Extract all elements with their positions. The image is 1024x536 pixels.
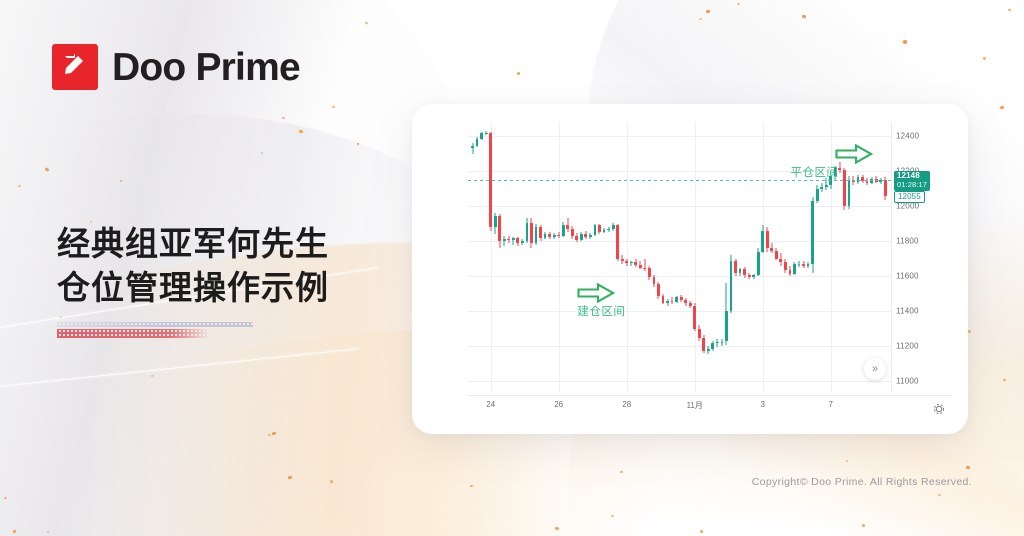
candle-body (684, 300, 687, 304)
candlestick (711, 122, 714, 392)
confetti-dot (700, 530, 704, 534)
candlestick (761, 122, 764, 392)
last-price-badge: 12148 01:28:17 (894, 171, 930, 190)
candlestick (621, 122, 624, 392)
y-axis-tick-label: 11600 (896, 272, 919, 281)
confetti-dot (282, 117, 285, 120)
candlestick (693, 122, 696, 392)
current-price-line (468, 180, 892, 181)
candle-body (702, 338, 705, 351)
candlestick (607, 122, 610, 392)
candlestick (675, 122, 678, 392)
candle-body (748, 275, 751, 276)
candlestick (485, 122, 488, 392)
confetti-dot (737, 2, 741, 5)
candlestick (480, 122, 483, 392)
confetti-dot (706, 9, 711, 13)
confetti-dot (47, 531, 50, 534)
candle-body (557, 235, 560, 236)
candle-body (548, 234, 551, 237)
annotation-close-range: 平仓区间 (791, 144, 873, 180)
candle-body (716, 342, 719, 343)
candle-body (884, 180, 887, 197)
candle-body (612, 225, 615, 229)
candle-body (653, 277, 656, 284)
candlestick (539, 122, 542, 392)
candle-body (598, 225, 601, 231)
candlestick (721, 122, 724, 392)
candle-body (689, 303, 692, 306)
candle-body (480, 133, 483, 138)
confetti-dot (4, 497, 7, 500)
candlestick (584, 122, 587, 392)
candlestick (507, 122, 510, 392)
last-price-value: 12148 (897, 171, 920, 180)
confetti-dot (470, 484, 474, 487)
candle-body (526, 223, 529, 241)
brand-logo-text: Doo Prime (112, 48, 300, 87)
candlestick (544, 122, 547, 392)
candle-wick (504, 236, 505, 247)
candlestick (770, 122, 773, 392)
candlestick (553, 122, 556, 392)
candlestick (884, 122, 887, 392)
x-axis-tick-label: 7 (829, 400, 833, 409)
confetti-dot (620, 471, 623, 474)
candle-body (589, 235, 592, 237)
candle-body (571, 229, 574, 236)
confetti-dot (268, 433, 272, 436)
x-axis-tick-label: 26 (554, 400, 563, 409)
candle-wick (717, 339, 718, 347)
confetti-dot (261, 152, 263, 154)
confetti-dot (1008, 8, 1012, 11)
candle-body (553, 235, 556, 237)
candlestick (512, 122, 515, 392)
candlestick (784, 122, 787, 392)
candlestick (589, 122, 592, 392)
candlestick (653, 122, 656, 392)
candlestick (489, 122, 492, 392)
candle-body (825, 185, 828, 187)
candlestick (671, 122, 674, 392)
candle-body (693, 306, 696, 329)
candlestick (476, 122, 479, 392)
candlestick (648, 122, 651, 392)
candle-body (662, 296, 665, 302)
candlestick (471, 122, 474, 392)
candle-body (607, 229, 610, 230)
y-axis-tick-label: 11400 (896, 307, 919, 316)
confetti-dot (332, 106, 335, 109)
chart-inner: 建仓区间 平仓区间 124001220012000118001160011400… (430, 114, 960, 426)
candle-body (680, 297, 683, 300)
accent-bar-row-red (57, 329, 253, 338)
candle-body (743, 269, 746, 275)
brand-logo: Doo Prime (52, 44, 300, 90)
candlestick (875, 122, 878, 392)
candlestick (775, 122, 778, 392)
bid-price-badge: 12055 (894, 191, 925, 204)
confetti-dot (968, 330, 972, 334)
x-axis-tick-label: 24 (486, 400, 495, 409)
chart-card: 建仓区间 平仓区间 124001220012000118001160011400… (412, 104, 968, 434)
candle-body (820, 187, 823, 189)
candle-body (625, 261, 628, 264)
confetti-dot (966, 466, 971, 470)
candlestick (548, 122, 551, 392)
candlestick (571, 122, 574, 392)
candle-body (739, 269, 742, 273)
candle-body (471, 146, 474, 149)
candle-body (639, 265, 642, 268)
candle-body (707, 349, 710, 351)
confetti-dot (45, 167, 50, 172)
candlestick (662, 122, 665, 392)
candle-body (757, 252, 760, 276)
candlestick (748, 122, 751, 392)
candlestick (603, 122, 606, 392)
scroll-to-latest-button[interactable]: » (864, 358, 886, 380)
candlestick (530, 122, 533, 392)
candle-body (616, 225, 619, 259)
candle-wick (472, 143, 473, 154)
candle-body (521, 241, 524, 243)
confetti-dot (862, 524, 866, 528)
confetti-dot (365, 21, 369, 24)
candle-body (734, 261, 737, 273)
annotation-close-range-label: 平仓区间 (791, 164, 873, 180)
candle-body (793, 264, 796, 274)
candlestick-plot[interactable]: 建仓区间 平仓区间 (468, 122, 892, 392)
x-axis-tick-label: 11月 (687, 400, 703, 411)
candle-body (485, 133, 488, 134)
confetti-dot (272, 431, 277, 435)
candlestick (716, 122, 719, 392)
confetti-dot (151, 375, 155, 378)
candle-body (476, 139, 479, 146)
doo-prime-logo-mark-icon (52, 44, 98, 90)
candle-body (721, 342, 724, 343)
x-axis-tick-label: 3 (761, 400, 765, 409)
candlestick (498, 122, 501, 392)
candlestick (630, 122, 633, 392)
candlestick (725, 122, 728, 392)
candle-body (603, 230, 606, 232)
candle-body (848, 180, 851, 206)
candle-body (770, 248, 773, 251)
candle-body (535, 227, 538, 243)
accent-bar-row-blue (57, 322, 253, 327)
candlestick (698, 122, 701, 392)
candlestick (739, 122, 742, 392)
decorative-accent-bar (57, 322, 253, 338)
candlestick (779, 122, 782, 392)
candle-body (798, 264, 801, 265)
candlestick (689, 122, 692, 392)
candlestick (580, 122, 583, 392)
candle-body (594, 225, 597, 234)
candlestick (516, 122, 519, 392)
candlestick (557, 122, 560, 392)
candlestick (575, 122, 578, 392)
x-axis-tick-label: 28 (622, 400, 631, 409)
candlestick (503, 122, 506, 392)
double-chevron-right-icon: » (872, 363, 878, 375)
candlestick (643, 122, 646, 392)
candlestick (594, 122, 597, 392)
poster-canvas: Doo Prime 经典组亚军何先生 仓位管理操作示例 建仓区间 (0, 0, 1024, 536)
y-axis[interactable]: 1240012200120001180011600114001120011000… (892, 122, 956, 392)
candle-body (802, 264, 805, 266)
candlestick (702, 122, 705, 392)
confetti-dot (1000, 105, 1005, 109)
candlestick (612, 122, 615, 392)
candle-body (779, 259, 782, 263)
y-axis-tick-label: 11200 (896, 342, 919, 351)
candlestick (562, 122, 565, 392)
confetti-dot (611, 515, 614, 518)
candlestick (634, 122, 637, 392)
candlestick (757, 122, 760, 392)
candlestick (657, 122, 660, 392)
candle-body (807, 264, 810, 266)
candle-body (766, 231, 769, 249)
candlestick (680, 122, 683, 392)
candle-body (775, 251, 778, 259)
confetti-dot (60, 316, 62, 318)
candle-body (494, 216, 497, 227)
candle-body (544, 234, 547, 238)
candlestick (639, 122, 642, 392)
candle-body (675, 297, 678, 301)
candle-body (530, 223, 533, 243)
candlestick (526, 122, 529, 392)
confetti-dot (299, 129, 304, 133)
candlestick (707, 122, 710, 392)
candle-body (580, 234, 583, 240)
candle-body (671, 301, 674, 302)
annotation-open-range: 建仓区间 (577, 283, 625, 319)
candle-body (711, 343, 714, 349)
candlestick (535, 122, 538, 392)
highlight-line (0, 348, 359, 389)
confetti-dot (120, 180, 122, 182)
confetti-dot (330, 480, 334, 484)
confetti-dot (288, 475, 293, 479)
candle-body (498, 216, 501, 241)
page-title-line-2: 仓位管理操作示例 (57, 266, 329, 310)
candle-body (761, 231, 764, 252)
confetti-dot (903, 40, 908, 45)
candle-body (512, 238, 515, 240)
candle-body (539, 227, 542, 238)
candle-body (648, 268, 651, 277)
confetti-dot (555, 526, 560, 530)
right-arrow-icon (577, 283, 615, 303)
page-title-line-1: 经典组亚军何先生 (57, 222, 329, 266)
gear-icon (933, 403, 945, 415)
confetti-dot (1003, 379, 1007, 382)
candle-body (698, 329, 701, 338)
x-axis[interactable]: 24262811月37 (468, 396, 892, 418)
candlestick (752, 122, 755, 392)
candle-body (816, 189, 819, 201)
confetti-dot (938, 493, 942, 496)
y-axis-tick-label: 11800 (896, 237, 919, 246)
right-arrow-icon (835, 144, 873, 164)
candle-body (503, 239, 506, 242)
copyright-text: Copyright© Doo Prime. All Rights Reserve… (752, 476, 972, 488)
y-axis-tick-label: 12400 (896, 132, 919, 141)
y-axis-tick-label: 11000 (896, 377, 919, 386)
annotation-open-range-label: 建仓区间 (577, 303, 625, 319)
confetti-dot (982, 56, 986, 60)
pen-outline-icon (61, 52, 89, 82)
candlestick (734, 122, 737, 392)
candle-body (752, 275, 755, 276)
candlestick (616, 122, 619, 392)
candlestick (666, 122, 669, 392)
bar-countdown-timer: 01:28:17 (897, 181, 927, 189)
candle-body (562, 225, 565, 236)
candle-body (643, 268, 646, 269)
candle-body (584, 234, 587, 237)
candle-body (811, 201, 814, 264)
confetti-dot (517, 72, 521, 76)
candlestick (625, 122, 628, 392)
candle-wick (644, 259, 645, 271)
candlestick (879, 122, 882, 392)
candle-body (516, 238, 519, 243)
candle-body (621, 259, 624, 261)
candle-body (634, 262, 637, 265)
confetti-dot (802, 14, 807, 18)
candle-body (789, 270, 792, 274)
page-title: 经典组亚军何先生 仓位管理操作示例 (57, 222, 329, 309)
candlestick (730, 122, 733, 392)
candlestick (684, 122, 687, 392)
candlestick (743, 122, 746, 392)
confetti-dot (357, 143, 360, 146)
chart-settings-button[interactable] (932, 402, 946, 416)
confetti-dot (13, 530, 17, 534)
candle-body (666, 301, 669, 303)
candle-body (730, 261, 733, 312)
candle-body (575, 236, 578, 240)
confetti-dot (18, 185, 22, 188)
candlestick (766, 122, 769, 392)
confetti-dot (846, 460, 848, 462)
candlestick (566, 122, 569, 392)
candle-body (725, 311, 728, 341)
candle-body (566, 225, 569, 229)
confetti-dot (699, 18, 702, 20)
candlestick (521, 122, 524, 392)
candle-body (657, 284, 660, 296)
candlestick (494, 122, 497, 392)
candlestick (598, 122, 601, 392)
candle-body (784, 262, 787, 270)
